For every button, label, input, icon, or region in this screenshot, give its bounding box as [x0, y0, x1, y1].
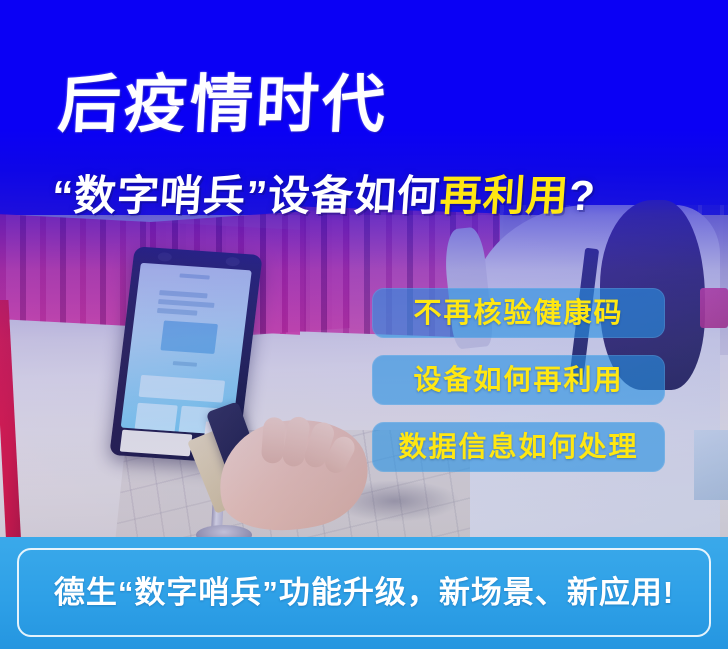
- topic-pill-1[interactable]: 不再核验健康码: [372, 288, 665, 338]
- bottom-banner-frame: 德生“数字哨兵”功能升级，新场景、新应用!: [17, 548, 711, 637]
- topic-pill-list: 不再核验健康码 设备如何再利用 数据信息如何处理: [372, 288, 665, 472]
- bottom-banner: 德生“数字哨兵”功能升级，新场景、新应用!: [0, 537, 728, 649]
- topic-pill-1-label: 不再核验健康码: [413, 299, 623, 327]
- topic-pill-2-label: 设备如何再利用: [413, 366, 623, 394]
- topic-pill-3-label: 数据信息如何处理: [398, 433, 638, 461]
- topic-pill-2[interactable]: 设备如何再利用: [372, 355, 665, 405]
- bottom-banner-text: 德生“数字哨兵”功能升级，新场景、新应用!: [54, 577, 674, 608]
- poster-root: 后疫情时代 “数字哨兵”设备如何再利用? 不再核验健康码 设备如何再利用 数据信…: [0, 0, 728, 649]
- topic-pill-3[interactable]: 数据信息如何处理: [372, 422, 665, 472]
